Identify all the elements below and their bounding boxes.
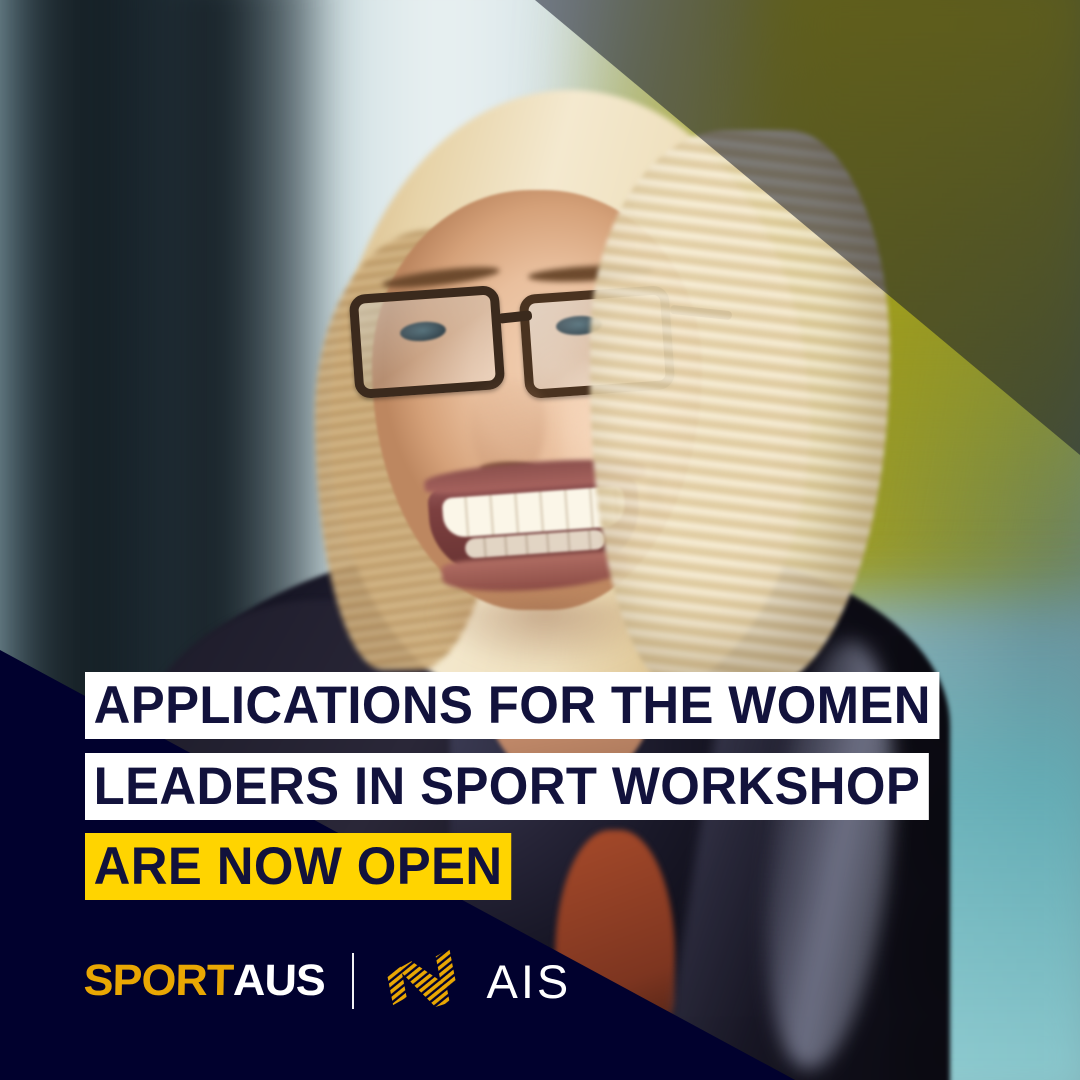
logo-divider — [352, 953, 354, 1009]
sportaus-logo-aus-text: AUS — [233, 959, 325, 1003]
ais-kangaroo-n-icon — [380, 948, 464, 1014]
headline-line-2: LEADERS IN SPORT WORKSHOP — [85, 753, 929, 820]
headline-line-3: ARE NOW OPEN — [85, 833, 511, 900]
ais-logo[interactable]: AIS — [380, 948, 571, 1014]
poster-canvas: APPLICATIONS FOR THE WOMEN LEADERS IN SP… — [0, 0, 1080, 1080]
headline-row-1: APPLICATIONS FOR THE WOMEN — [85, 672, 975, 739]
headline-row-2: LEADERS IN SPORT WORKSHOP — [85, 753, 975, 820]
logo-lockup: SPORT AUS AIS — [86, 948, 571, 1014]
sportaus-logo-sport-text: SPORT — [83, 959, 233, 1003]
sportaus-logo[interactable]: SPORT AUS — [83, 959, 325, 1003]
headline-block: APPLICATIONS FOR THE WOMEN LEADERS IN SP… — [85, 672, 975, 900]
hair-right — [590, 130, 890, 690]
headline-line-1: APPLICATIONS FOR THE WOMEN — [85, 672, 940, 739]
ais-wordmark: AIS — [486, 958, 571, 1005]
headline-row-3: ARE NOW OPEN — [85, 833, 975, 900]
lens-left — [349, 285, 506, 399]
